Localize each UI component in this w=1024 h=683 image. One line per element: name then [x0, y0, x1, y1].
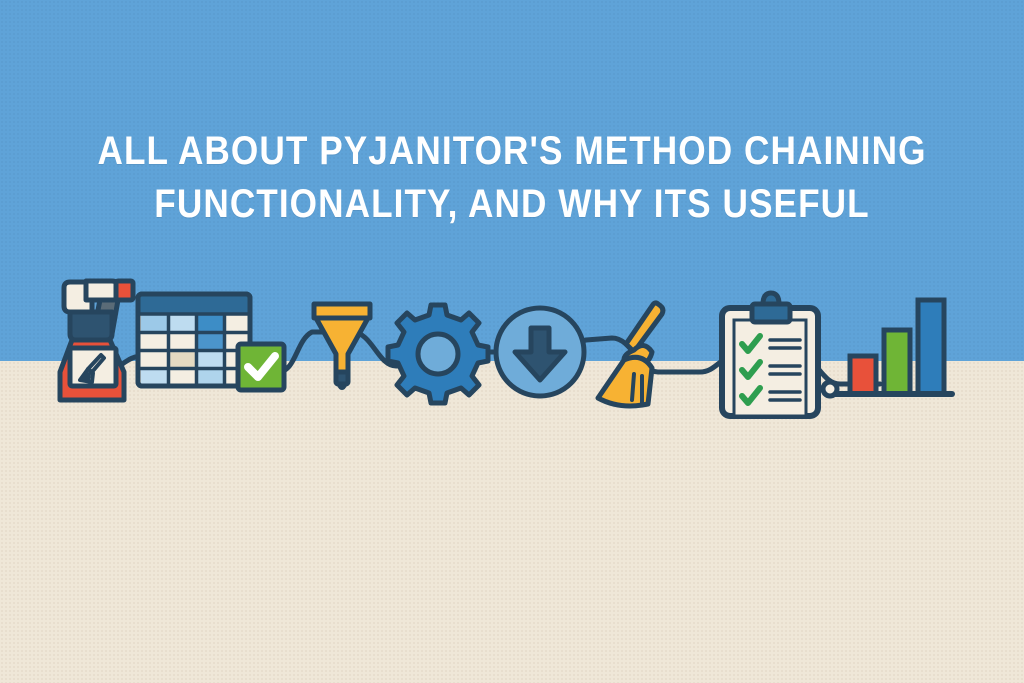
download-arrow-icon: [496, 308, 584, 396]
broom-icon: [598, 303, 663, 406]
pipeline-illustration: .ink{stroke:#26455E;stroke-width:5;strok…: [0, 0, 1024, 683]
check-badge-icon: [238, 344, 284, 390]
banner-image: ALL ABOUT PYJANITOR'S METHOD CHAINING FU…: [0, 0, 1024, 683]
spray-bottle-icon: [60, 281, 133, 400]
funnel-icon: [314, 304, 370, 388]
bar-2: [884, 330, 910, 394]
bar-3: [918, 300, 944, 394]
bar-1: [850, 356, 876, 394]
data-table-icon: [138, 294, 250, 386]
gear-icon: [388, 305, 488, 403]
clipboard-icon: [722, 293, 818, 416]
